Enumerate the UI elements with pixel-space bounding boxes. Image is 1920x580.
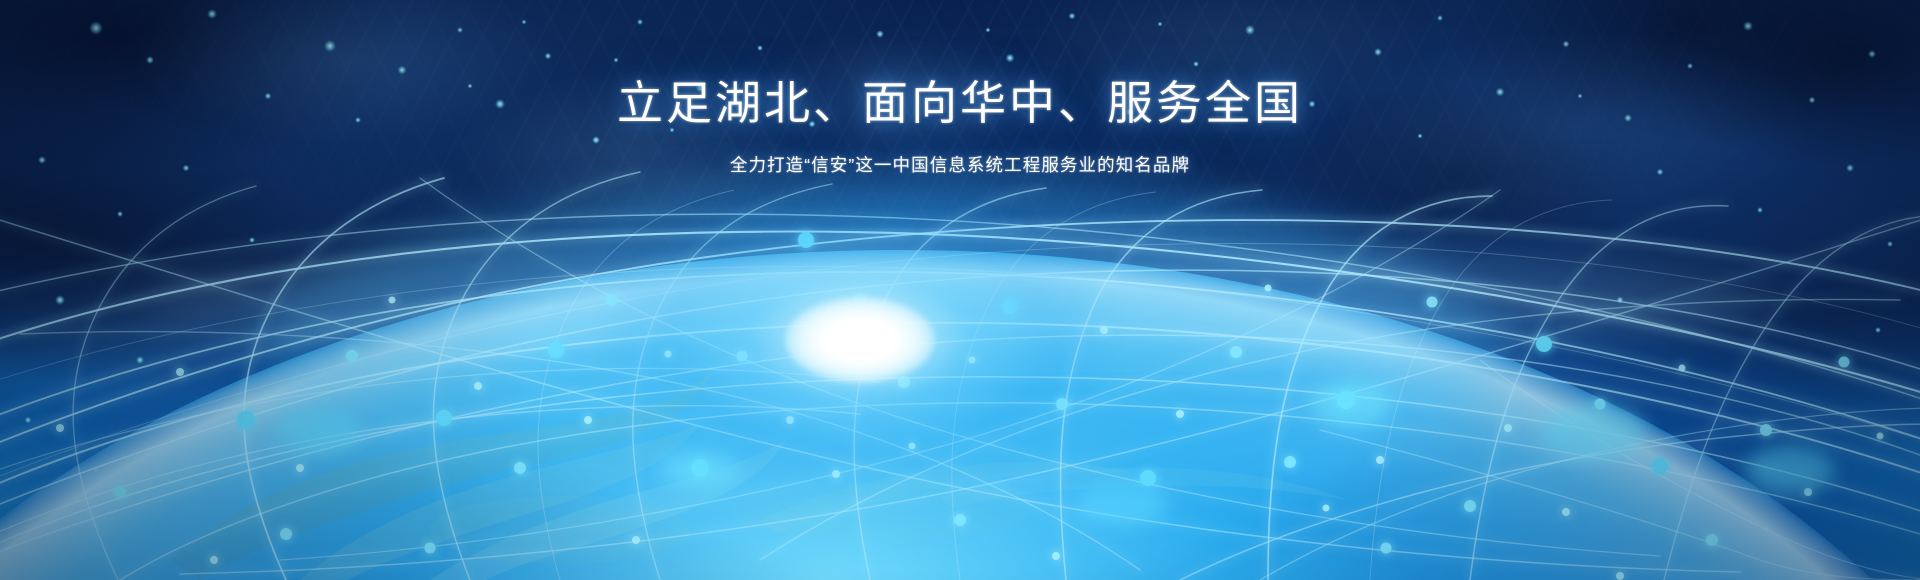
- banner-subheadline: 全力打造“信安”这一中国信息系统工程服务业的知名品牌: [0, 155, 1920, 176]
- hero-banner: 立足湖北、面向华中、服务全国 全力打造“信安”这一中国信息系统工程服务业的知名品…: [0, 0, 1920, 580]
- banner-headline: 立足湖北、面向华中、服务全国: [0, 78, 1920, 129]
- banner-text-block: 立足湖北、面向华中、服务全国 全力打造“信安”这一中国信息系统工程服务业的知名品…: [0, 78, 1920, 176]
